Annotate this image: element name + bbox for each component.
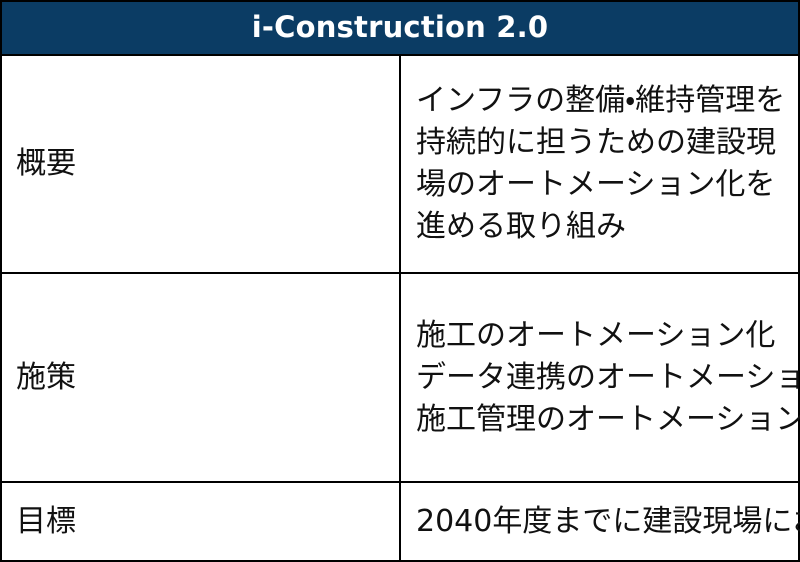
table-row: 施策 施工のオートメーション化 データ連携のオートメーション化 施工管理のオート… [1,273,799,482]
row-label-measures: 施策 [1,273,400,482]
table-row: 目標 2040年度までに建設現場において3割の省人化 [1,482,799,561]
row-content-overview: インフラの整備・維持管理を持続的に担うための建設現場のオートメーション化を進める… [400,55,799,273]
i-construction-info-panel: i-Construction 2.0 概要 インフラの整備・維持管理を持続的に担… [0,0,800,560]
row-label-overview: 概要 [1,55,400,273]
table-header-row: i-Construction 2.0 [1,1,799,55]
i-construction-table: i-Construction 2.0 概要 インフラの整備・維持管理を持続的に担… [0,0,800,562]
measure-item: データ連携のオートメーション化 [416,357,788,399]
row-content-goal: 2040年度までに建設現場において3割の省人化 [400,482,799,561]
table-header: i-Construction 2.0 [1,1,799,55]
measure-item: 施工のオートメーション化 [416,315,788,357]
goal-text: 2040年度までに建設現場において3割の省人化 [416,501,788,543]
measure-item: 施工管理のオートメーション化 [416,399,788,441]
row-label-goal: 目標 [1,482,400,561]
page-title: i-Construction 2.0 [1,1,799,55]
overview-text: インフラの整備・維持管理を持続的に担うための建設現場のオートメーション化を進める… [416,80,788,248]
table-body: 概要 インフラの整備・維持管理を持続的に担うための建設現場のオートメーション化を… [1,55,799,561]
row-content-measures: 施工のオートメーション化 データ連携のオートメーション化 施工管理のオートメーシ… [400,273,799,482]
table-row: 概要 インフラの整備・維持管理を持続的に担うための建設現場のオートメーション化を… [1,55,799,273]
